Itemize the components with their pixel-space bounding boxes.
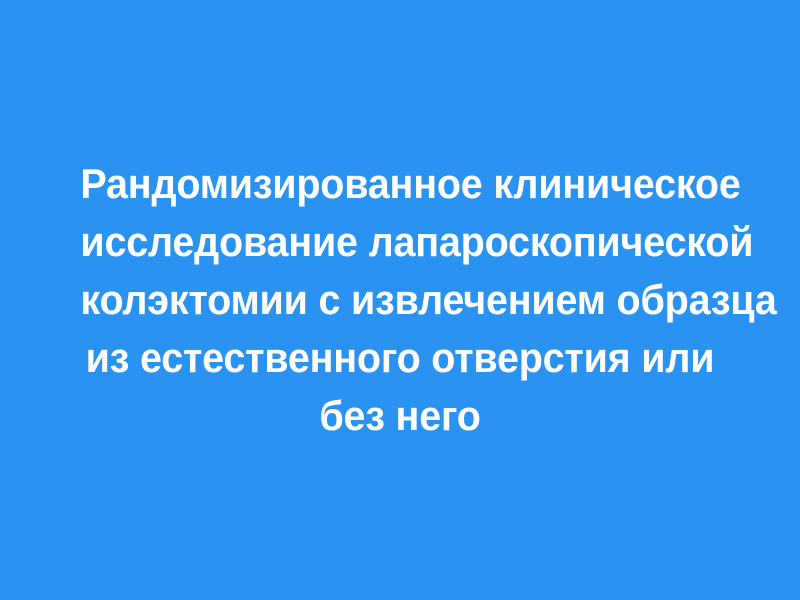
title-line-1: Рандомизированное клиническое xyxy=(80,155,719,213)
page-title: Рандомизированное клиническое исследован… xyxy=(50,155,750,445)
title-line-5: без него xyxy=(80,387,719,445)
title-slide: Рандомизированное клиническое исследован… xyxy=(0,0,800,600)
title-line-4: из естественного отверстия или xyxy=(80,329,719,387)
title-line-2: исследование лапароскопической xyxy=(80,213,719,271)
title-line-3: колэктомии с извлечением образца xyxy=(80,271,719,329)
